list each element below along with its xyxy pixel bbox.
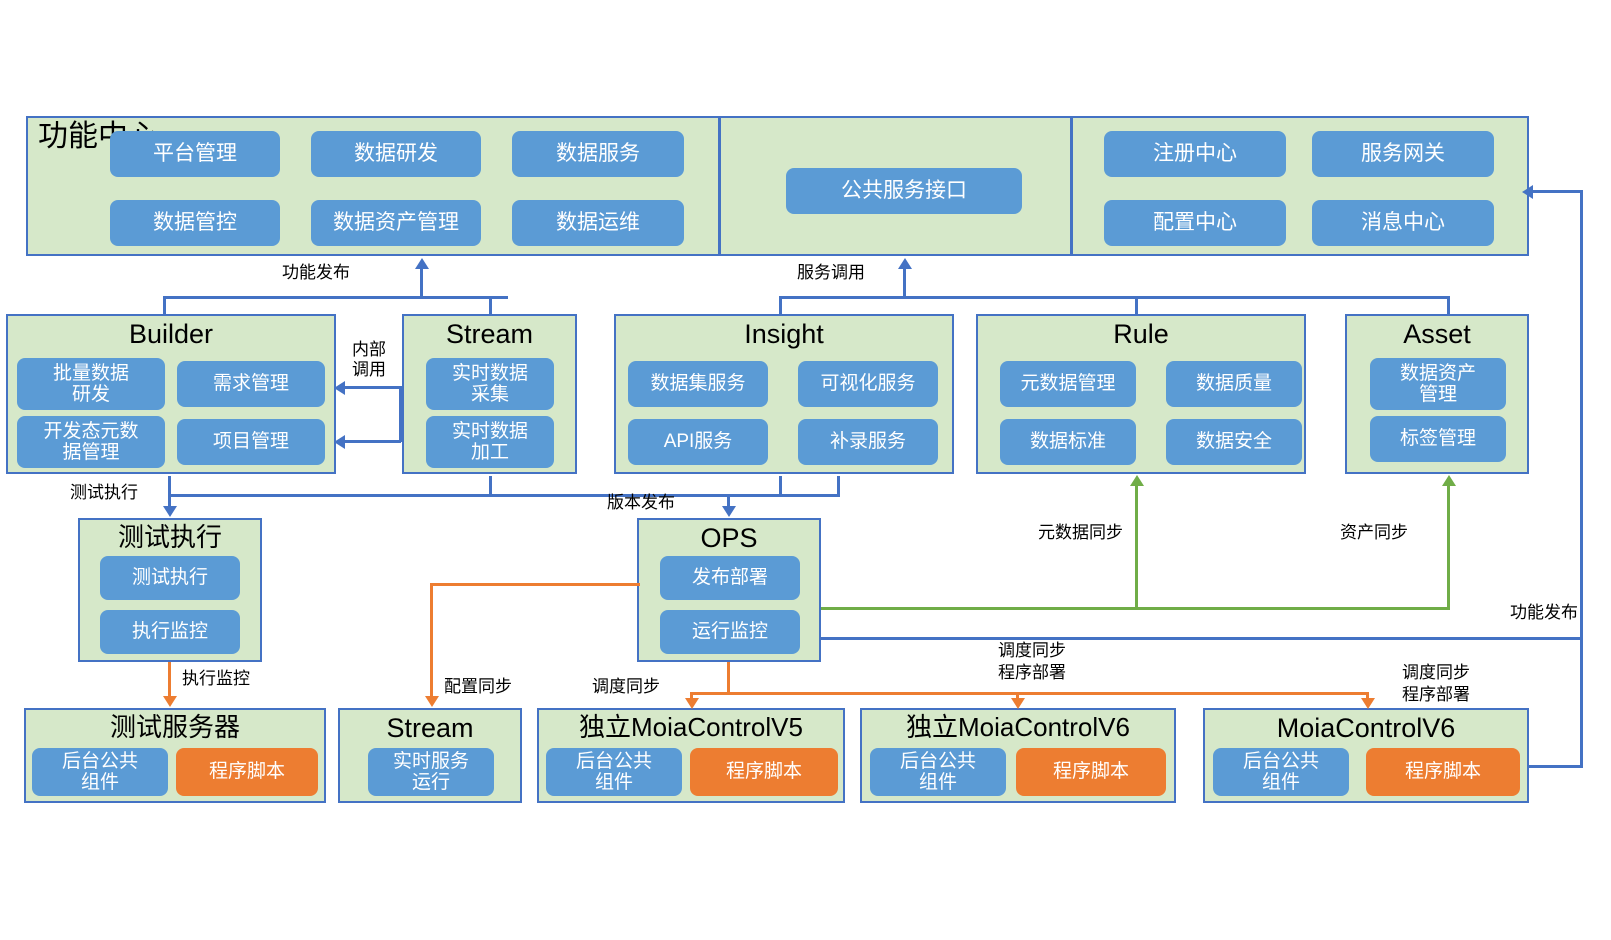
chip-data-development[interactable]: 数据研发 [311, 131, 481, 177]
edge-right-loop-arrow [1522, 185, 1533, 199]
chip-test-execution[interactable]: 测试执行 [100, 556, 240, 600]
chip-visualization-service[interactable]: 可视化服务 [798, 361, 938, 407]
label-schedule-sync: 调度同步 [592, 676, 660, 697]
chip-release-deploy[interactable]: 发布部署 [660, 556, 800, 600]
chip-backend-common-component-2[interactable]: 后台公共 组件 [546, 748, 682, 796]
edge-service-call-down-asset [1447, 296, 1450, 316]
edge-config-sync-v [430, 583, 433, 698]
edge-metadata-sync-v [1135, 486, 1138, 610]
chip-execution-monitor[interactable]: 执行监控 [100, 610, 240, 654]
edge-execute-monitor-arrow [163, 696, 177, 707]
edge-config-sync-h [430, 583, 640, 586]
chip-api-service[interactable]: API服务 [628, 419, 768, 465]
edge-version-publish-drop-stream [489, 476, 492, 496]
label-schedule-sync-deploy-right: 调度同步 程序部署 [1366, 662, 1506, 706]
chip-service-gateway[interactable]: 服务网关 [1312, 131, 1494, 177]
edge-internal-call-v [399, 386, 402, 442]
label-function-publish-top: 功能发布 [282, 262, 350, 283]
edge-schedule-bus [690, 692, 1369, 695]
chip-platform-management[interactable]: 平台管理 [110, 131, 280, 177]
chip-dev-metadata-management[interactable]: 开发态元数 据管理 [17, 416, 165, 468]
group-stream-server-title: Stream [340, 710, 520, 742]
chip-runtime-monitor[interactable]: 运行监控 [660, 610, 800, 654]
chip-program-script-1[interactable]: 程序脚本 [176, 748, 318, 796]
chip-public-service-interface[interactable]: 公共服务接口 [786, 168, 1022, 214]
chip-backend-common-component-1[interactable]: 后台公共 组件 [32, 748, 168, 796]
label-test-execute: 测试执行 [70, 482, 138, 503]
label-internal-call: 内部 调用 [338, 340, 400, 380]
chip-config-center[interactable]: 配置中心 [1104, 200, 1286, 246]
chip-data-security[interactable]: 数据安全 [1166, 419, 1302, 465]
label-asset-sync: 资产同步 [1340, 522, 1408, 543]
chip-batch-data-development[interactable]: 批量数据 研发 [17, 358, 165, 410]
edge-test-execute-v [168, 476, 171, 508]
chip-requirement-management[interactable]: 需求管理 [177, 361, 325, 407]
chip-realtime-service-running[interactable]: 实时服务 运行 [368, 748, 494, 796]
label-schedule-sync-deploy: 调度同步 程序部署 [962, 640, 1102, 684]
panel-divider-1 [718, 116, 721, 256]
edge-function-publish-up [420, 268, 423, 298]
chip-data-asset-management[interactable]: 数据资产管理 [311, 200, 481, 246]
edge-asset-sync-v [1447, 486, 1450, 610]
edge-service-call-arrow [898, 258, 912, 269]
group-standalone-moiacontrolv6-title: 独立MoiaControlV6 [862, 710, 1174, 741]
edge-function-publish-down-builder [163, 296, 166, 316]
edge-internal-call-arrow-1 [334, 381, 345, 395]
chip-data-standard[interactable]: 数据标准 [1000, 419, 1136, 465]
group-moiacontrolv6-title: MoiaControlV6 [1205, 710, 1527, 742]
edge-version-publish-drop-right [837, 476, 840, 496]
edge-right-loop-h-from-ops [821, 637, 1583, 640]
group-rule-title: Rule [978, 316, 1304, 348]
edge-metadata-sync-arrow [1130, 475, 1144, 486]
chip-tag-management[interactable]: 标签管理 [1370, 416, 1506, 462]
label-version-publish: 版本发布 [607, 492, 675, 513]
chip-dataset-service[interactable]: 数据集服务 [628, 361, 768, 407]
chip-metadata-management[interactable]: 元数据管理 [1000, 361, 1136, 407]
label-service-call: 服务调用 [797, 262, 865, 283]
chip-supplement-service[interactable]: 补录服务 [798, 419, 938, 465]
chip-realtime-data-collection[interactable]: 实时数据 采集 [426, 358, 554, 410]
chip-project-management[interactable]: 项目管理 [177, 419, 325, 465]
group-test-execution-title: 测试执行 [80, 520, 260, 551]
edge-function-publish-bus [163, 296, 508, 299]
panel-divider-2 [1070, 116, 1073, 256]
chip-data-governance[interactable]: 数据管控 [110, 200, 280, 246]
label-config-sync: 配置同步 [444, 676, 512, 697]
group-ops-title: OPS [639, 520, 819, 552]
chip-message-center[interactable]: 消息中心 [1312, 200, 1494, 246]
group-stream-title: Stream [404, 316, 575, 348]
group-insight-title: Insight [616, 316, 952, 348]
edge-config-sync-arrow [425, 696, 439, 707]
edge-right-return-v [1580, 637, 1583, 767]
edge-function-publish-down-stream [489, 296, 492, 316]
edge-test-execute-arrow [163, 506, 177, 517]
chip-backend-common-component-3[interactable]: 后台公共 组件 [870, 748, 1006, 796]
edge-schedule-arrow-v5 [685, 698, 699, 709]
edge-internal-call-arrow-2 [334, 435, 345, 449]
chip-registry-center[interactable]: 注册中心 [1104, 131, 1286, 177]
edge-service-call-up [903, 268, 906, 298]
edge-version-publish-bus [168, 494, 840, 497]
edge-version-publish-drop-insight [779, 476, 782, 496]
label-execute-monitor: 执行监控 [182, 668, 250, 689]
edge-execute-monitor-v [168, 662, 171, 698]
chip-program-script-3[interactable]: 程序脚本 [1016, 748, 1166, 796]
edge-internal-call-h2 [345, 440, 401, 443]
edge-right-loop-h-top [1532, 190, 1583, 193]
edge-function-publish-arrow [415, 258, 429, 269]
edge-asset-sync-arrow [1442, 475, 1456, 486]
chip-data-quality[interactable]: 数据质量 [1166, 361, 1302, 407]
edge-service-call-down-insight [779, 296, 782, 316]
chip-program-script-4[interactable]: 程序脚本 [1366, 748, 1520, 796]
edge-internal-call-h1 [345, 386, 401, 389]
group-builder-title: Builder [8, 316, 334, 348]
edge-version-publish-arrow [722, 506, 736, 517]
group-standalone-moiacontrolv5-title: 独立MoiaControlV5 [539, 710, 843, 741]
edge-schedule-arrow-v6a [1011, 698, 1025, 709]
edge-schedule-v-from-ops [727, 662, 730, 694]
function-center-label: 功能中心 [38, 122, 76, 153]
label-metadata-sync: 元数据同步 [1038, 522, 1123, 543]
chip-program-script-2[interactable]: 程序脚本 [690, 748, 838, 796]
edge-service-call-bus [779, 296, 1450, 299]
chip-realtime-data-processing[interactable]: 实时数据 加工 [426, 416, 554, 468]
chip-data-operations[interactable]: 数据运维 [512, 200, 684, 246]
edge-right-loop-v [1580, 190, 1583, 640]
chip-data-asset-mgmt[interactable]: 数据资产 管理 [1370, 358, 1506, 410]
chip-backend-common-component-4[interactable]: 后台公共 组件 [1213, 748, 1349, 796]
label-function-publish-right: 功能发布 [1448, 602, 1578, 623]
chip-data-service[interactable]: 数据服务 [512, 131, 684, 177]
edge-right-return-h [1529, 765, 1583, 768]
group-asset-title: Asset [1347, 316, 1527, 348]
edge-service-call-down-rule [1135, 296, 1138, 316]
architecture-diagram: 功能中心 平台管理 数据研发 数据服务 数据管控 数据资产管理 数据运维 公共服… [0, 0, 1611, 940]
group-test-server-title: 测试服务器 [26, 710, 324, 741]
